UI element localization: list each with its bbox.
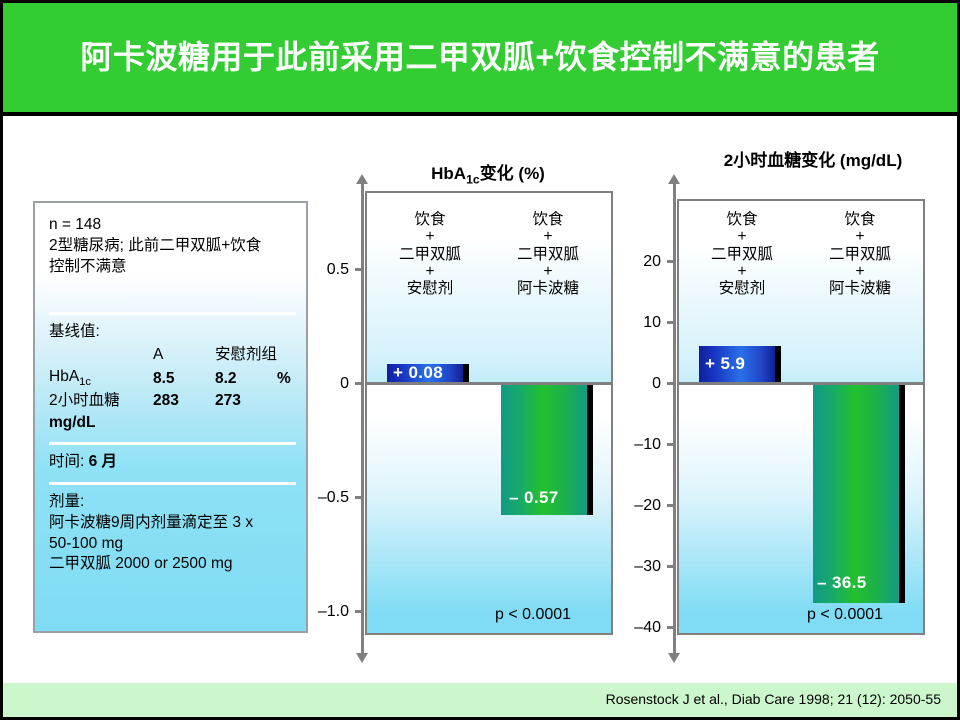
chart-pp2h-bar-1-value: – 36.5 xyxy=(817,573,867,593)
info-dose-line2: 50-100 mg xyxy=(49,534,296,555)
baseline-row1-label: 2小时血糖 xyxy=(49,391,153,413)
chart-hba1c-ytick-label-3: –1.0 xyxy=(291,603,349,621)
info-sample-size: n = 148 xyxy=(49,215,296,236)
chart-pp2h-group-label-1: 饮食 + 二甲双胍 + 阿卡波糖 xyxy=(803,211,917,298)
chart-pp2h-tick-4 xyxy=(667,504,676,507)
chart-hba1c-ytick-label-2: –0.5 xyxy=(291,489,349,507)
baseline-row1-unit xyxy=(277,391,291,413)
group0-line3: + xyxy=(373,263,487,280)
slide-canvas: 阿卡波糖用于此前采用二甲双胍+饮食控制不满意的患者 n = 148 2型糖尿病;… xyxy=(0,0,960,720)
chart-pp2h-glucose: 2小时血糖变化 (mg/dL) 20 10 0 –10 –20 –30 –40 … xyxy=(3,3,4,720)
chart-pp2h-bar-0-value: + 5.9 xyxy=(705,354,745,374)
page-title: 阿卡波糖用于此前采用二甲双胍+饮食控制不满意的患者 xyxy=(80,40,879,75)
chart-pp2h-axis-arrow-up-icon xyxy=(668,174,680,184)
info-unit-line: mg/dL xyxy=(49,413,296,434)
chart-pp2h-ytick-label-6: –40 xyxy=(603,619,661,637)
chart-pp2h-tick-1 xyxy=(667,321,676,324)
group1-line1: + xyxy=(803,228,917,245)
info-baseline-heading: 基线值: xyxy=(49,322,296,343)
info-divider-2 xyxy=(49,442,296,445)
footer-citation: Rosenstock J et al., Diab Care 1998; 21 … xyxy=(606,691,941,707)
baseline-row0-unit: % xyxy=(277,367,291,391)
group1-line0: 饮食 xyxy=(491,211,605,228)
chart-pp2h-ytick-label-2: 0 xyxy=(603,375,661,393)
info-duration: 时间: 6 月 xyxy=(49,452,296,473)
group0-line1: + xyxy=(685,228,799,245)
chart-hba1c-tick-1 xyxy=(355,382,364,385)
chart-hba1c-ytick-label-1: 0 xyxy=(291,375,349,393)
chart-hba1c-ytick-label-0: 0.5 xyxy=(291,261,349,279)
group0-line2: 二甲双胍 xyxy=(373,246,487,263)
info-duration-label: 时间: xyxy=(49,453,84,470)
chart-hba1c-bar-0-value: + 0.08 xyxy=(393,363,443,383)
baseline-row0-b: 8.2 xyxy=(215,367,277,391)
group1-line3: + xyxy=(491,263,605,280)
chart-hba1c-plot-area: 饮食 + 二甲双胍 + 安慰剂 饮食 + 二甲双胍 + 阿卡波糖 + 0.08 … xyxy=(365,191,613,635)
chart-pp2h-bar-1 xyxy=(813,385,905,603)
table-row: HbA1c 8.5 8.2 % xyxy=(49,367,291,391)
chart-pp2h-title: 2小时血糖变化 (mg/dL) xyxy=(668,146,958,171)
group0-line0: 饮食 xyxy=(685,211,799,228)
baseline-col-a-header: A xyxy=(153,345,215,367)
chart-pp2h-ytick-label-3: –10 xyxy=(603,436,661,454)
chart-pp2h-tick-2 xyxy=(667,382,676,385)
baseline-blank-cell xyxy=(49,345,153,367)
chart-pp2h-tick-0 xyxy=(667,260,676,263)
chart-pp2h-group-label-0: 饮食 + 二甲双胍 + 安慰剂 xyxy=(685,211,799,298)
chart-pp2h-plot-area: 饮食 + 二甲双胍 + 安慰剂 饮食 + 二甲双胍 + 阿卡波糖 + 5.9 –… xyxy=(677,199,925,635)
baseline-row0-label: HbA1c xyxy=(49,367,153,391)
baseline-row0-label-sub: 1c xyxy=(79,376,91,388)
group0-line4: 安慰剂 xyxy=(685,280,799,297)
slide-title-banner: 阿卡波糖用于此前采用二甲双胍+饮食控制不满意的患者 xyxy=(3,3,957,116)
info-dose-line1: 阿卡波糖9周内剂量滴定至 3 x xyxy=(49,513,296,534)
group1-line4: 阿卡波糖 xyxy=(803,280,917,297)
baseline-col-b-header: 安慰剂组 xyxy=(215,345,277,367)
baseline-table: A 安慰剂组 HbA1c 8.5 8.2 % 2小时血糖 283 273 xyxy=(49,345,291,413)
chart-pp2h-ytick-label-0: 20 xyxy=(603,253,661,271)
chart-hba1c-tick-2 xyxy=(355,496,364,499)
baseline-row1-b: 273 xyxy=(215,391,277,413)
group1-line4: 阿卡波糖 xyxy=(491,280,605,297)
chart-hba1c-title-sub: 1c xyxy=(466,172,480,186)
group1-line2: 二甲双胍 xyxy=(491,246,605,263)
chart-hba1c-bar-1-value: – 0.57 xyxy=(509,488,559,508)
group0-line4: 安慰剂 xyxy=(373,280,487,297)
table-row: 2小时血糖 283 273 xyxy=(49,391,291,413)
group0-line1: + xyxy=(373,228,487,245)
group0-line3: + xyxy=(685,263,799,280)
group1-line3: + xyxy=(803,263,917,280)
chart-hba1c-y-axis xyxy=(361,183,364,653)
chart-hba1c-group-label-0: 饮食 + 二甲双胍 + 安慰剂 xyxy=(373,211,487,298)
chart-pp2h-ytick-label-5: –30 xyxy=(603,558,661,576)
group0-line2: 二甲双胍 xyxy=(685,246,799,263)
info-duration-value: 6 月 xyxy=(89,453,117,470)
group1-line1: + xyxy=(491,228,605,245)
chart-hba1c-title-main: HbA xyxy=(431,164,466,183)
group1-line2: 二甲双胍 xyxy=(803,246,917,263)
chart-hba1c-title-rest: 变化 (%) xyxy=(480,164,545,183)
info-population-line1: 2型糖尿病; 此前二甲双胍+饮食 xyxy=(49,236,296,257)
info-dose-heading: 剂量: xyxy=(49,492,296,513)
info-divider-3 xyxy=(49,482,296,485)
info-spacer xyxy=(49,277,296,303)
table-header-row: A 安慰剂组 xyxy=(49,345,291,367)
chart-pp2h-ytick-label-1: 10 xyxy=(603,314,661,332)
baseline-row0-label-text: HbA xyxy=(49,368,79,385)
chart-hba1c-group-label-1: 饮食 + 二甲双胍 + 阿卡波糖 xyxy=(491,211,605,298)
chart-hba1c-title: HbA1c变化 (%) xyxy=(398,159,578,186)
baseline-row1-a: 283 xyxy=(153,391,215,413)
chart-pp2h-tick-3 xyxy=(667,443,676,446)
group0-line0: 饮食 xyxy=(373,211,487,228)
baseline-row0-a: 8.5 xyxy=(153,367,215,391)
info-population-line2: 控制不满意 xyxy=(49,257,296,278)
chart-hba1c-tick-0 xyxy=(355,268,364,271)
chart-pp2h-ytick-label-4: –20 xyxy=(603,497,661,515)
chart-hba1c-axis-arrow-down-icon xyxy=(356,653,368,663)
chart-hba1c-axis-arrow-up-icon xyxy=(356,174,368,184)
info-divider-1 xyxy=(49,312,296,315)
chart-pp2h-pvalue: p < 0.0001 xyxy=(807,606,883,624)
footer-band: Rosenstock J et al., Diab Care 1998; 21 … xyxy=(3,683,957,717)
chart-pp2h-axis-arrow-down-icon xyxy=(668,653,680,663)
study-info-box: n = 148 2型糖尿病; 此前二甲双胍+饮食 控制不满意 基线值: A 安慰… xyxy=(33,201,308,633)
chart-pp2h-y-axis xyxy=(673,183,676,653)
baseline-unit-header xyxy=(277,345,291,367)
chart-hba1c-pvalue: p < 0.0001 xyxy=(495,606,571,624)
chart-pp2h-tick-5 xyxy=(667,565,676,568)
chart-pp2h-tick-6 xyxy=(667,626,676,629)
group1-line0: 饮食 xyxy=(803,211,917,228)
info-dose-line3: 二甲双胍 2000 or 2500 mg xyxy=(49,554,296,575)
chart-hba1c-tick-3 xyxy=(355,610,364,613)
